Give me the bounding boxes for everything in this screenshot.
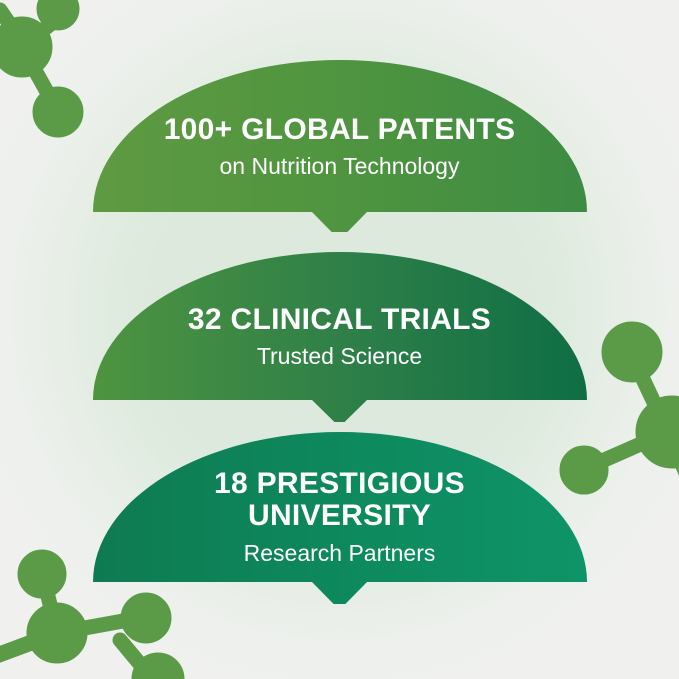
banner-3-text: 18 PRESTIGIOUS UNIVERSITY Research Partn…	[0, 468, 679, 567]
banner-global-patents: 100+ GLOBAL PATENTS on Nutrition Technol…	[0, 52, 679, 232]
banner-3-headline-line-2: UNIVERSITY	[0, 500, 679, 532]
banner-1-subline: on Nutrition Technology	[0, 153, 679, 181]
banner-1-text: 100+ GLOBAL PATENTS on Nutrition Technol…	[0, 114, 679, 180]
banner-university-partners: 18 PRESTIGIOUS UNIVERSITY Research Partn…	[0, 424, 679, 604]
banner-2-headline: 32 CLINICAL TRIALS	[0, 304, 679, 336]
banner-1-headline: 100+ GLOBAL PATENTS	[0, 114, 679, 146]
infographic-canvas: 100+ GLOBAL PATENTS on Nutrition Technol…	[0, 0, 679, 679]
banner-2-subline: Trusted Science	[0, 343, 679, 371]
banner-stack: 100+ GLOBAL PATENTS on Nutrition Technol…	[0, 0, 679, 679]
banner-clinical-trials: 32 CLINICAL TRIALS Trusted Science	[0, 250, 679, 422]
banner-2-text: 32 CLINICAL TRIALS Trusted Science	[0, 304, 679, 370]
banner-3-subline: Research Partners	[0, 540, 679, 568]
banner-3-headline-line-1: 18 PRESTIGIOUS	[0, 468, 679, 500]
